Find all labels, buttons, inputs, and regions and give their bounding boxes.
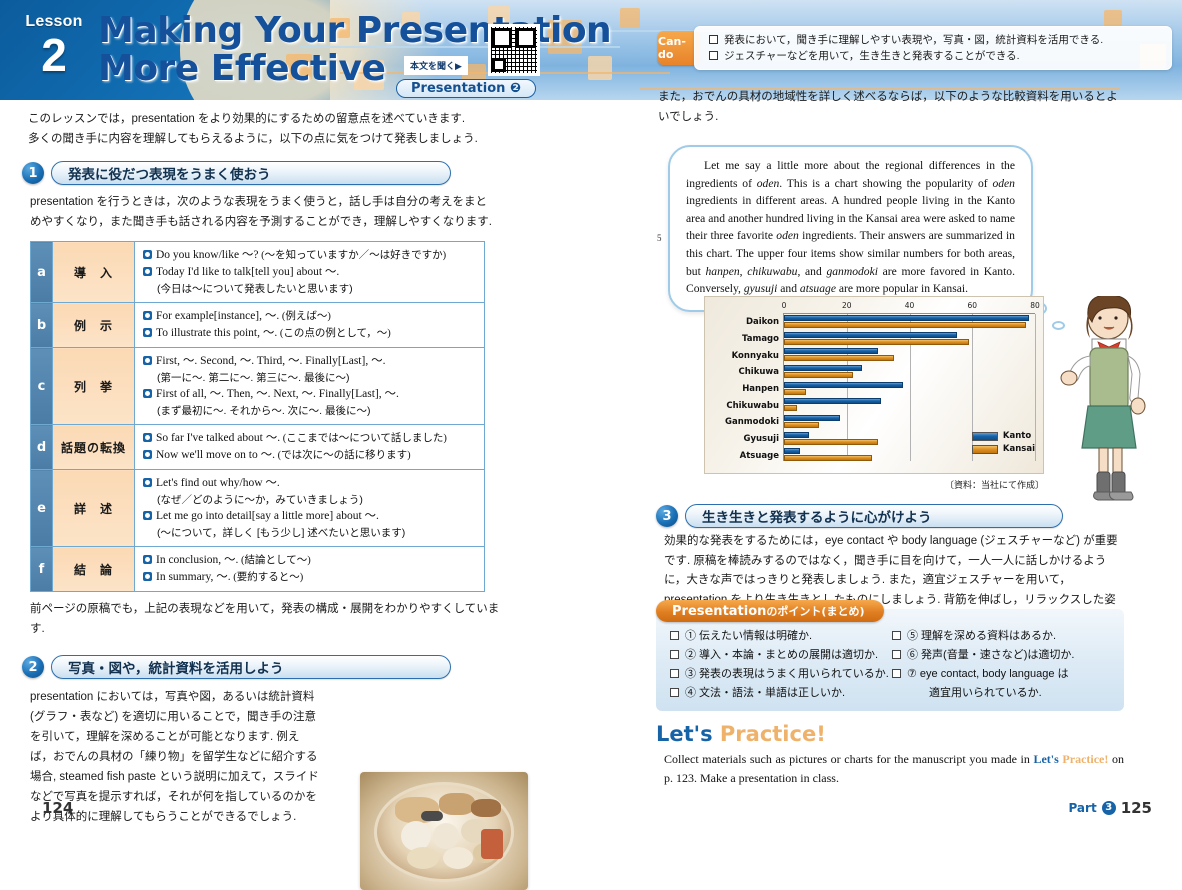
bullet-icon — [143, 511, 152, 520]
bullet-icon — [143, 267, 152, 276]
row-expressions: In conclusion, ～. (結論として～)In summary, ～.… — [135, 547, 485, 592]
table-row: d話題の転換So far I've talked about ～. (ここまでは… — [31, 425, 485, 470]
point-item-label: ⑥ 発声(音量・速さなど)は適切か. — [907, 646, 1074, 665]
chart-legend-item: Kanto — [972, 431, 1035, 441]
point-item[interactable]: ③ 発表の表現はうまく用いられているか. — [670, 665, 892, 684]
bullet-icon — [143, 478, 152, 487]
points-title-sub: のポイント(まとめ) — [766, 605, 864, 618]
left-page-number: 124 — [42, 799, 73, 817]
part-number: 3 — [1102, 801, 1116, 815]
row-letter: b — [31, 303, 53, 348]
chart-legend-swatch — [972, 445, 998, 454]
oden-photo — [360, 772, 528, 890]
lets-practice-title: Let's Practice! — [656, 722, 1124, 746]
row-category: 例 示 — [53, 303, 135, 348]
expression-line: Let's find out why/how ～. — [143, 475, 478, 492]
chart-bar — [784, 372, 853, 378]
expression-english: Today I'd like to talk[tell you] about ～… — [156, 266, 339, 278]
intro-line-1: このレッスンでは，presentation をより効果的にするための留意点を述べ… — [28, 110, 528, 130]
cando-item[interactable]: 発表において，聞き手に理解しやすい表現や，写真・図，統計資料を活用できる. — [709, 32, 1163, 48]
chart-bar — [784, 365, 862, 371]
chart-category-label: Gyusuji — [743, 434, 779, 444]
chart-category-group: Chikuwabu — [784, 397, 1035, 414]
chart-category-label: Ganmodoki — [725, 417, 779, 427]
expression-japanese: (結論として～) — [238, 555, 310, 566]
chart-bar — [784, 422, 819, 428]
points-column-2: ⑤ 理解を深める資料はあるか.⑥ 発声(音量・速さなど)は適切か.⑦ eye c… — [892, 627, 1114, 703]
expression-japanese: (要約すると～) — [231, 572, 304, 583]
expression-english: So far I've talked about ～. — [156, 432, 280, 444]
chart-bar — [784, 382, 903, 388]
point-item-label: ① 伝えたい情報は明確か. — [685, 627, 812, 646]
expression-japanese: (ここまでは～について話しました) — [280, 433, 447, 444]
expression-line: Now we'll move on to ～. (では次に～の話に移ります) — [143, 447, 478, 464]
row-letter: e — [31, 470, 53, 547]
section-2-body: presentation においては，写真や図，あるいは統計資料 (グラフ・表な… — [30, 687, 320, 827]
section-1-header: 1 発表に役だつ表現をうまく使おう — [22, 161, 600, 185]
point-item[interactable]: ① 伝えたい情報は明確か. — [670, 627, 892, 646]
point-item[interactable]: ⑦ eye contact, body language は — [892, 665, 1114, 684]
chart-category-label: Hanpen — [742, 384, 779, 394]
expression-japanese: (～を知っていますか／～は好きですか) — [259, 250, 447, 261]
checkbox-icon[interactable] — [670, 688, 679, 697]
section-1-number: 1 — [22, 162, 44, 184]
row-letter: d — [31, 425, 53, 470]
expression-english: First of all, ～. Then, ～. Next, ～. Final… — [156, 388, 399, 400]
presentation-pill: Presentation ❷ — [396, 79, 536, 98]
chart-legend-swatch — [972, 432, 998, 441]
lp-body-1: Collect materials such as pictures or ch… — [664, 752, 1033, 766]
chart-category-label: Daikon — [746, 317, 779, 327]
bullet-icon — [143, 450, 152, 459]
chart-bar — [784, 348, 878, 354]
row-expressions: Let's find out why/how ～.(なぜ／どのように～か，みてい… — [135, 470, 485, 547]
row-expressions: So far I've talked about ～. (ここまでは～について話… — [135, 425, 485, 470]
table-row: e詳 述Let's find out why/how ～.(なぜ／どのように～か… — [31, 470, 485, 547]
textbook-spread: Lesson 2 Making Your Presentation More E… — [0, 0, 1182, 831]
chart-legend-label: Kansai — [1003, 444, 1035, 454]
lets-practice-body: Collect materials such as pictures or ch… — [656, 750, 1124, 788]
chart-bar — [784, 322, 1026, 328]
chart-category-label: Chikuwabu — [726, 401, 779, 411]
bullet-icon — [143, 433, 152, 442]
checkbox-icon[interactable] — [892, 669, 901, 678]
point-item[interactable]: ② 導入・本論・まとめの展開は適切か. — [670, 646, 892, 665]
expression-english: Let me go into detail[say a little more]… — [156, 510, 379, 522]
chart-bar — [784, 432, 809, 438]
lets-practice-section: Let's Practice! Collect materials such a… — [656, 722, 1124, 788]
row-letter: a — [31, 242, 53, 303]
bullet-icon — [143, 356, 152, 365]
cando-item-label: 発表において，聞き手に理解しやすい表現や，写真・図，統計資料を活用できる. — [724, 32, 1103, 48]
play-icon: ▶ — [455, 62, 462, 72]
cando-box: 発表において，聞き手に理解しやすい表現や，写真・図，統計資料を活用できる. ジェ… — [694, 26, 1172, 70]
chart-bar — [784, 315, 1029, 321]
left-page-column: このレッスンでは，presentation をより効果的にするための留意点を述べ… — [0, 100, 600, 831]
expression-line: To illustrate this point, ～. (この点の例として，～… — [143, 325, 478, 342]
point-item-label: ③ 発表の表現はうまく用いられているか. — [685, 665, 889, 684]
checkbox-icon[interactable] — [670, 631, 679, 640]
expression-japanese: (今日は～について発表したいと思います) — [143, 281, 478, 297]
chart-x-tick-label: 60 — [967, 301, 977, 310]
checkbox-icon[interactable] — [670, 669, 679, 678]
table-row: b例 示For example[instance], ～. (例えば～)To i… — [31, 303, 485, 348]
presentation-points: Presentationのポイント(まとめ) ① 伝えたい情報は明確か.② 導入… — [656, 600, 1124, 711]
section-2-header: 2 写真・図や，統計資料を活用しよう — [22, 655, 600, 679]
expression-line: First of all, ～. Then, ～. Next, ～. Final… — [143, 386, 478, 403]
expression-line: Do you know/like ～? (～を知っていますか／～は好きですか) — [143, 247, 478, 264]
lp-ref-1: Let's — [1033, 752, 1058, 766]
chart-category-group: Chikuwa — [784, 364, 1035, 381]
expression-english: To illustrate this point, ～. — [156, 327, 277, 339]
right-page-footer: Part 3 125 — [1068, 799, 1152, 817]
bullet-icon — [143, 328, 152, 337]
chart-category-group: Tamago — [784, 331, 1035, 348]
expression-line: Today I'd like to talk[tell you] about ～… — [143, 264, 478, 281]
points-column-1: ① 伝えたい情報は明確か.② 導入・本論・まとめの展開は適切か.③ 発表の表現は… — [670, 627, 892, 703]
checkbox-icon[interactable] — [709, 35, 718, 44]
row-expressions: For example[instance], ～. (例えば～)To illus… — [135, 303, 485, 348]
row-letter: f — [31, 547, 53, 592]
lp-ref-2: Practice! — [1062, 752, 1108, 766]
section-3-header: 3 生き生きと発表するように心がけよう — [656, 498, 1063, 536]
right-page-number: 125 — [1121, 799, 1152, 817]
header-decoration-square — [620, 8, 640, 28]
chart-category-group: Ganmodoki — [784, 414, 1035, 431]
expression-line: So far I've talked about ～. (ここまでは～について話… — [143, 430, 478, 447]
intro-paragraph: このレッスンでは，presentation をより効果的にするための留意点を述べ… — [28, 110, 528, 149]
lesson-number: 2 — [18, 32, 90, 78]
lets-practice-title-part1: Let's — [656, 722, 713, 746]
right-page-column: また，おでんの具材の地域性を詳しく述べるならば，以下のような比較資料を用いるとよ… — [600, 100, 1182, 831]
expression-japanese: (では次に～の話に移ります) — [275, 450, 411, 461]
section-3-heading: 生き生きと発表するように心がけよう — [685, 504, 1063, 528]
expression-japanese: (例えば～) — [279, 311, 331, 322]
bullet-icon — [143, 311, 152, 320]
chart-source-caption: 〔資料：当社にて作成〕 — [704, 478, 1044, 491]
expression-line: In summary, ～. (要約すると～) — [143, 569, 478, 586]
row-category: 話題の転換 — [53, 425, 135, 470]
chart-legend: KantoKansai — [972, 431, 1035, 457]
listen-tag-label: 本文を聞く — [410, 62, 455, 72]
chart-legend-label: Kanto — [1003, 431, 1031, 441]
point-item[interactable]: 適宜用いられているか. — [892, 684, 1114, 703]
table-row: c列 挙First, ～. Second, ～. Third, ～. Final… — [31, 348, 485, 425]
row-expressions: Do you know/like ～? (～を知っていますか／～は好きですか)T… — [135, 242, 485, 303]
listen-audio-tag[interactable]: 本文を聞く▶ — [404, 56, 468, 75]
row-letter: c — [31, 348, 53, 425]
point-item-label: ④ 文法・語法・単語は正しいか. — [685, 684, 845, 703]
speech-bubble: 5 Let me say a little more about the reg… — [668, 145, 1033, 312]
chart-category-label: Konnyaku — [732, 351, 779, 361]
row-category: 結 論 — [53, 547, 135, 592]
checkbox-icon[interactable] — [670, 650, 679, 659]
checkbox-spacer — [892, 688, 901, 697]
oden-popularity-chart: 020406080DaikonTamagoKonnyakuChikuwaHanp… — [704, 296, 1044, 474]
expression-english: Let's find out why/how ～. — [156, 477, 280, 489]
expression-japanese: (この点の例として，～) — [277, 328, 391, 339]
section-2-heading: 写真・図や，統計資料を活用しよう — [51, 655, 451, 679]
section-1-heading: 発表に役だつ表現をうまく使おう — [51, 161, 451, 185]
chart-bar — [784, 398, 881, 404]
chart-category-label: Tamago — [742, 334, 779, 344]
chart-bar — [784, 415, 840, 421]
presentation-points-title: Presentationのポイント(まとめ) — [656, 600, 884, 622]
chart-category-group: Daikon — [784, 314, 1035, 331]
point-item-label: ② 導入・本論・まとめの展開は適切か. — [685, 646, 878, 665]
bullet-icon — [143, 250, 152, 259]
expression-line: First, ～. Second, ～. Third, ～. Finally[L… — [143, 353, 478, 370]
qr-code-icon[interactable] — [488, 24, 540, 76]
page-header-band: Lesson 2 Making Your Presentation More E… — [0, 0, 1182, 100]
chart-category-group: Hanpen — [784, 381, 1035, 398]
student-illustration — [1052, 296, 1162, 504]
point-item[interactable]: ④ 文法・語法・単語は正しいか. — [670, 684, 892, 703]
points-title-main: Presentation — [672, 604, 766, 619]
row-category: 列 挙 — [53, 348, 135, 425]
part-label: Part — [1068, 801, 1096, 815]
table-row: a導 入Do you know/like ～? (～を知っていますか／～は好きで… — [31, 242, 485, 303]
row-expressions: First, ～. Second, ～. Third, ～. Finally[L… — [135, 348, 485, 425]
expression-english: First, ～. Second, ～. Third, ～. Finally[L… — [156, 355, 385, 367]
checkbox-icon[interactable] — [892, 650, 901, 659]
right-lead-in: また，おでんの具材の地域性を詳しく述べるならば，以下のような比較資料を用いるとよ… — [658, 88, 1118, 127]
bullet-icon — [143, 555, 152, 564]
chart-bar — [784, 448, 800, 454]
chart-bar — [784, 332, 957, 338]
bullet-icon — [143, 389, 152, 398]
expression-line: Let me go into detail[say a little more]… — [143, 508, 478, 525]
expression-line: For example[instance], ～. (例えば～) — [143, 308, 478, 325]
oden-bowl — [374, 782, 514, 882]
row-category: 導 入 — [53, 242, 135, 303]
expressions-table: a導 入Do you know/like ～? (～を知っていますか／～は好きで… — [30, 241, 485, 592]
chart-x-tick-label: 40 — [905, 301, 915, 310]
point-item[interactable]: ⑤ 理解を深める資料はあるか. — [892, 627, 1114, 646]
chart-x-tick-label: 20 — [842, 301, 852, 310]
point-item-label: ⑦ eye contact, body language は — [907, 665, 1069, 684]
cando-container: Can-do 発表において，聞き手に理解しやすい表現や，写真・図，統計資料を活用… — [658, 26, 1172, 70]
expression-english: Do you know/like ～? — [156, 249, 259, 261]
chart-category-label: Chikuwa — [739, 367, 780, 377]
checkbox-icon[interactable] — [892, 631, 901, 640]
chart-gridline — [1035, 314, 1036, 461]
expression-japanese: (なぜ／どのように～か，みていきましょう) — [143, 492, 478, 508]
chart-legend-item: Kansai — [972, 444, 1035, 454]
chart-bar — [784, 389, 806, 395]
expression-japanese: (第一に～. 第二に～. 第三に～. 最後に～) — [143, 370, 478, 386]
point-item[interactable]: ⑥ 発声(音量・速さなど)は適切か. — [892, 646, 1114, 665]
chart-x-tick-label: 0 — [782, 301, 787, 310]
bullet-icon — [143, 572, 152, 581]
expression-japanese: (～について，詳しく [もう少し] 述べたいと思います) — [143, 525, 478, 541]
expression-japanese: (まず最初に～. それから～. 次に～. 最後に～) — [143, 403, 478, 419]
section-2-number: 2 — [22, 656, 44, 678]
chart-bar — [784, 339, 969, 345]
chart-bar — [784, 405, 797, 411]
row-category: 詳 述 — [53, 470, 135, 547]
expression-english: Now we'll move on to ～. — [156, 449, 275, 461]
expression-english: In summary, ～. — [156, 571, 231, 583]
intro-line-2: 多くの聞き手に内容を理解してもらえるように，以下の点に気をつけて発表しましょう. — [28, 130, 528, 150]
section-1-body: presentation を行うときは，次のような表現をうまく使うと，話し手は自… — [30, 193, 492, 232]
chart-bar — [784, 455, 872, 461]
speech-bubble-text: Let me say a little more about the regio… — [686, 157, 1015, 298]
chart-bar — [784, 439, 878, 445]
chart-bar — [784, 355, 894, 361]
point-item-label: ⑤ 理解を深める資料はあるか. — [907, 627, 1056, 646]
chart-category-group: Konnyaku — [784, 347, 1035, 364]
expression-english: For example[instance], ～. — [156, 310, 279, 322]
checkbox-icon[interactable] — [709, 51, 718, 60]
chart-x-tick-label: 80 — [1030, 301, 1040, 310]
table-row: f結 論In conclusion, ～. (結論として～)In summary… — [31, 547, 485, 592]
point-item-label: 適宜用いられているか. — [907, 684, 1042, 703]
lesson-badge: Lesson 2 — [18, 12, 90, 84]
cando-item[interactable]: ジェスチャーなどを用いて，生き生きと発表することができる. — [709, 48, 1163, 64]
after-table-note: 前ページの原稿でも，上記の表現などを用いて，発表の構成・展開をわかりやすくしてい… — [30, 600, 500, 639]
cando-item-label: ジェスチャーなどを用いて，生き生きと発表することができる. — [724, 48, 1020, 64]
line-number: 5 — [657, 233, 662, 243]
lets-practice-title-part2: Practice! — [720, 722, 826, 746]
section-3-number: 3 — [656, 505, 678, 527]
presentation-points-box: ① 伝えたい情報は明確か.② 導入・本論・まとめの展開は適切か.③ 発表の表現は… — [656, 609, 1124, 711]
chart-category-label: Atsuage — [740, 451, 779, 461]
expression-english: In conclusion, ～. — [156, 554, 238, 566]
expression-line: In conclusion, ～. (結論として～) — [143, 552, 478, 569]
